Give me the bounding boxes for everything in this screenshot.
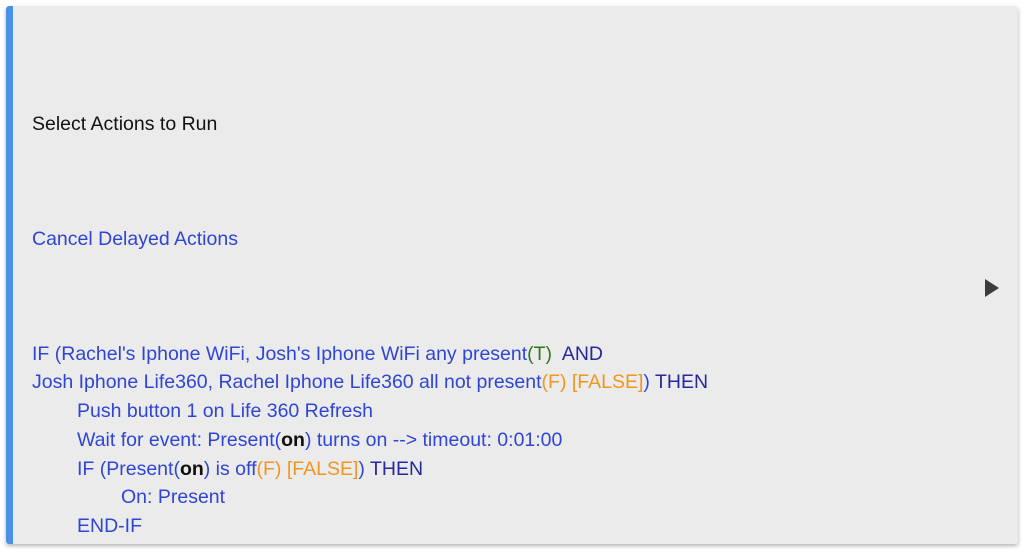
script-token-state: on bbox=[180, 458, 204, 480]
script-token-plain: END-IF bbox=[77, 515, 142, 537]
script-token-false: (F) bbox=[257, 458, 282, 480]
script-token-plain: Josh Iphone Life360, Rachel Iphone Life3… bbox=[32, 371, 542, 393]
script-token-plain: Wait for event: Present( bbox=[77, 429, 281, 451]
script-lines-container: IF (Rachel's Iphone WiFi, Josh's Iphone … bbox=[32, 340, 978, 544]
play-triangle-icon[interactable] bbox=[985, 279, 999, 297]
script-line[interactable]: Josh Iphone Life360, Rachel Iphone Life3… bbox=[32, 368, 978, 397]
script-token-keyword: AND bbox=[562, 343, 603, 365]
script-token-state: on bbox=[281, 429, 305, 451]
action-script-listing: Select Actions to Run Cancel Delayed Act… bbox=[32, 24, 978, 544]
script-token-false: (F) bbox=[542, 371, 567, 393]
card-accent-rail bbox=[6, 6, 13, 544]
script-token-plain bbox=[552, 343, 562, 365]
script-token-plain: On: Present bbox=[121, 486, 225, 508]
script-token-keyword: THEN bbox=[365, 458, 423, 480]
app-root: Select Actions to Run Cancel Delayed Act… bbox=[0, 0, 1024, 553]
select-actions-card: Select Actions to Run Cancel Delayed Act… bbox=[6, 6, 1018, 544]
script-token-plain: IF (Rachel's Iphone WiFi, Josh's Iphone … bbox=[32, 343, 527, 365]
cancel-delayed-actions-link[interactable]: Cancel Delayed Actions bbox=[32, 225, 978, 254]
script-token-plain: IF (Present( bbox=[77, 458, 180, 480]
page-title: Select Actions to Run bbox=[32, 110, 978, 139]
script-token-plain: ) is off bbox=[204, 458, 257, 480]
script-line[interactable]: IF (Rachel's Iphone WiFi, Josh's Iphone … bbox=[32, 340, 978, 369]
script-token-true: (T) bbox=[527, 343, 552, 365]
script-token-plain: Push button 1 on Life 360 Refresh bbox=[77, 400, 373, 422]
script-line[interactable]: Push button 1 on Life 360 Refresh bbox=[32, 397, 978, 426]
script-token-keyword: THEN bbox=[650, 371, 708, 393]
script-token-false: [FALSE] bbox=[572, 371, 644, 393]
script-token-false: [FALSE] bbox=[287, 458, 359, 480]
script-line[interactable]: Wait for event: Present(on) turns on -->… bbox=[32, 426, 978, 455]
script-line[interactable]: IF (Present(on) is off(F) [FALSE]) THEN bbox=[32, 455, 978, 484]
script-line[interactable]: END-IF bbox=[32, 512, 978, 541]
script-token-plain: ) turns on --> timeout: 0:01:00 bbox=[305, 429, 562, 451]
script-line[interactable]: IF (Rachel's Iphone WiFi, Josh's Iphone … bbox=[32, 541, 978, 544]
script-line[interactable]: On: Present bbox=[32, 483, 978, 512]
